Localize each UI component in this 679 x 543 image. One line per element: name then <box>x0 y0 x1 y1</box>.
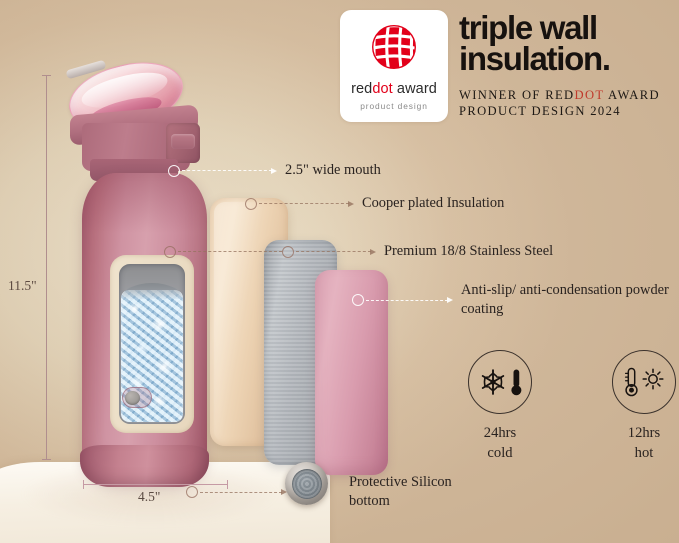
badge-cold-text: 24hrs cold <box>484 423 516 463</box>
callout-label-steel: Premium 18/8 Stainless Steel <box>384 242 553 261</box>
height-dimension-label: 11.5" <box>8 278 37 294</box>
award-subtitle-dot: DOT <box>575 88 605 102</box>
callout-label-copper: Cooper plated Insulation <box>362 194 504 213</box>
bottle-cap-latch <box>166 123 200 163</box>
header: reddot award product design triple wall … <box>340 10 672 132</box>
callout-label-wide-mouth: 2.5" wide mouth <box>285 161 381 180</box>
reddot-globe-icon <box>366 19 422 75</box>
feature-badges: 24hrs cold <box>462 350 679 463</box>
reddot-wordmark: reddot award <box>351 81 437 97</box>
callout-leader-line <box>178 251 282 252</box>
callout-leader-line-2 <box>296 251 371 252</box>
callout-label-silicon-bottom: Protective Silicon bottom <box>349 473 469 511</box>
product-infographic: reddot award product design triple wall … <box>0 0 679 543</box>
reddot-word-red: red <box>351 81 372 97</box>
callout-marker-icon <box>164 246 176 258</box>
callout-wide-mouth: 2.5" wide mouth <box>168 161 381 180</box>
callout-arrow-icon <box>447 297 453 303</box>
callout-copper: Cooper plated Insulation <box>245 194 504 213</box>
badge-hot-circle <box>612 350 676 414</box>
callout-leader-line <box>259 203 349 204</box>
bottle-shoulder-shading <box>82 173 207 233</box>
callout-arrow-icon <box>281 489 287 495</box>
award-subtitle: WINNER OF REDDOT AWARD PRODUCT DESIGN 20… <box>459 87 660 120</box>
badge-cold: 24hrs cold <box>462 350 538 463</box>
badge-hot-text: 12hrs hot <box>628 423 660 463</box>
bottle-side-button <box>122 387 152 408</box>
callout-leader-line <box>200 492 282 493</box>
badge-hot-duration: 12hrs <box>628 425 660 441</box>
callout-silicon-bottom: Protective Silicon bottom <box>186 473 469 511</box>
width-dimension-line <box>83 484 228 485</box>
callout-powder-coating: Anti-slip/ anti-condensation powder coat… <box>352 281 676 319</box>
badge-cold-mode: cold <box>487 445 512 461</box>
callout-leader-line <box>182 170 272 171</box>
badge-hot-mode: hot <box>635 445 654 461</box>
badge-cold-duration: 24hrs <box>484 425 516 441</box>
thermometer-icon <box>510 367 523 397</box>
award-subtitle-post: AWARD <box>604 88 660 102</box>
callout-label-powder-coating: Anti-slip/ anti-condensation powder coat… <box>461 281 676 319</box>
callout-arrow-icon <box>348 201 354 207</box>
callout-arrow-icon <box>370 249 376 255</box>
header-text-block: triple wall insulation. WINNER OF REDDOT… <box>459 10 660 132</box>
reddot-award-badge: reddot award product design <box>340 10 448 122</box>
badge-hot: 12hrs hot <box>606 350 679 463</box>
thermometer-icon <box>624 366 639 398</box>
award-subtitle-line2: PRODUCT DESIGN 2024 <box>459 104 621 118</box>
award-subtitle-pre: WINNER OF RED <box>459 88 575 102</box>
title-line-2: insulation. <box>459 43 660 74</box>
sun-icon <box>641 367 665 391</box>
reddot-word-award: award <box>393 81 437 97</box>
reddot-subtitle: product design <box>360 101 428 111</box>
callout-leader-line <box>366 300 448 301</box>
snowflake-icon <box>478 367 508 397</box>
callout-marker-icon <box>245 198 257 210</box>
reddot-word-dot: dot <box>372 81 392 97</box>
callout-marker-icon <box>352 294 364 306</box>
height-dimension-line <box>46 75 47 460</box>
callout-steel: Premium 18/8 Stainless Steel <box>164 242 553 261</box>
callout-marker-secondary-icon <box>282 246 294 258</box>
callout-marker-icon <box>186 486 198 498</box>
bottle-cutaway-window <box>110 255 194 433</box>
callout-marker-icon <box>168 165 180 177</box>
callout-arrow-icon <box>271 168 277 174</box>
page-title: triple wall insulation. <box>459 12 660 75</box>
width-dimension-label: 4.5" <box>138 489 160 505</box>
badge-cold-circle <box>468 350 532 414</box>
